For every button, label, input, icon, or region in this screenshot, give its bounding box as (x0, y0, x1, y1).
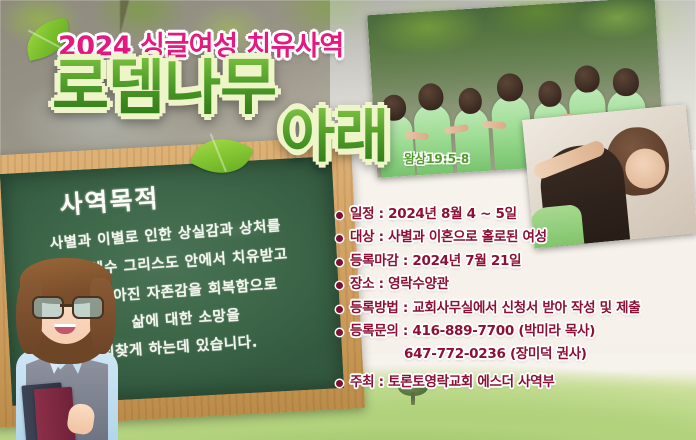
info-item-contact-secondary: 647-772-0236 (장미덕 권사) (336, 346, 692, 363)
scripture-reference: 왕상19:5-8 (404, 150, 469, 167)
poster-title-line1: 로뎀나무 (52, 58, 276, 116)
bullet-icon (336, 306, 343, 313)
info-item-registration-method: 등록방법 : 교회사무실에서 신청서 받아 작성 및 제출 (336, 300, 692, 317)
info-item-schedule: 일정 : 2024년 8월 4 ~ 5일 (336, 206, 692, 223)
glasses-lens-right (72, 296, 104, 319)
info-item-contact: 등록문의 : 416-889-7700 (박미라 목사) (336, 323, 692, 340)
glasses-icon (32, 296, 102, 316)
poster-title-line2: 아래 (280, 108, 388, 164)
bullet-icon-placeholder (336, 352, 343, 359)
event-info-list: 일정 : 2024년 8월 4 ~ 5일 대상 : 사별과 이혼으로 홀로된 여… (336, 206, 692, 398)
info-item-text: 등록방법 : 교회사무실에서 신청서 받아 작성 및 제출 (350, 300, 640, 317)
glasses-lens-left (32, 296, 64, 319)
bullet-icon (336, 282, 343, 289)
teacher-character (2, 256, 130, 440)
info-item-text: 등록마감 : 2024년 7월 21일 (350, 253, 521, 270)
bullet-icon (336, 329, 343, 336)
bullet-icon (336, 259, 343, 266)
info-item-host: 주최 : 토론토영락교회 에스더 사역부 (336, 374, 692, 391)
chalkboard-heading: 사역목적 (58, 179, 160, 222)
info-item-text: 대상 : 사별과 이혼으로 홀로된 여성 (350, 229, 547, 246)
info-item-text: 647-772-0236 (장미덕 권사) (404, 346, 587, 363)
info-item-deadline: 등록마감 : 2024년 7월 21일 (336, 253, 692, 270)
info-item-text: 등록문의 : 416-889-7700 (박미라 목사) (350, 323, 595, 340)
info-item-text: 장소 : 영락수양관 (350, 276, 449, 293)
poster-root: 사역목적 사별과 이별로 인한 상실감과 상처를 예수 그리스도 안에서 치유받… (0, 0, 696, 440)
info-item-location: 장소 : 영락수양관 (336, 276, 692, 293)
info-item-audience: 대상 : 사별과 이혼으로 홀로된 여성 (336, 229, 692, 246)
bullet-icon (336, 212, 343, 219)
bullet-icon (336, 380, 343, 387)
info-item-text: 일정 : 2024년 8월 4 ~ 5일 (350, 206, 517, 223)
bullet-icon (336, 235, 343, 242)
info-item-text: 주최 : 토론토영락교회 에스더 사역부 (350, 374, 555, 391)
chalkboard-line: 사별과 이별로 인한 상실감과 상처를 (11, 209, 320, 261)
